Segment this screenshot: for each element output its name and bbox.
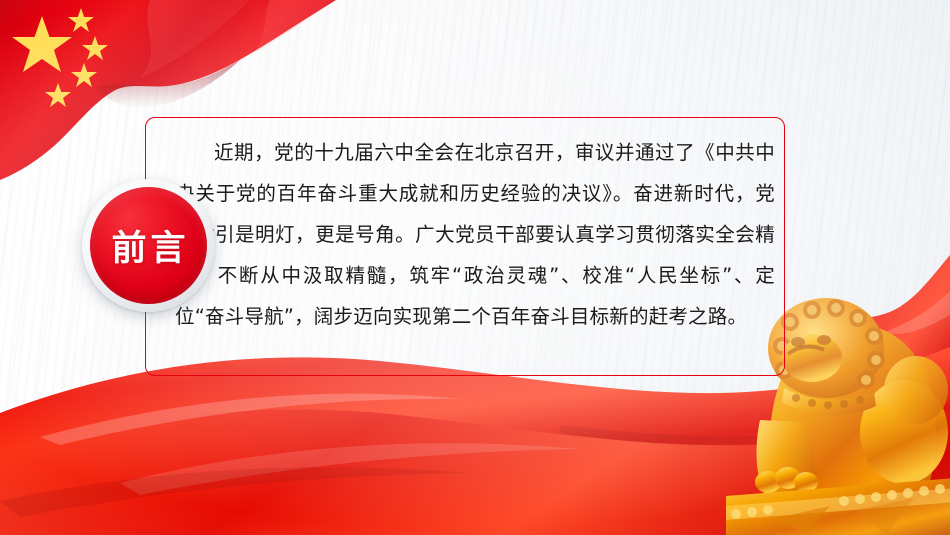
- preface-badge[interactable]: 前言: [90, 187, 207, 304]
- preface-badge-label: 前言: [107, 220, 189, 271]
- preface-body-text: 近期，党的十九届六中全会在北京召开，审议并通过了《中共中央关于党的百年奋斗重大成…: [175, 132, 775, 367]
- slide-canvas: 近期，党的十九届六中全会在北京召开，审议并通过了《中共中央关于党的百年奋斗重大成…: [0, 0, 950, 535]
